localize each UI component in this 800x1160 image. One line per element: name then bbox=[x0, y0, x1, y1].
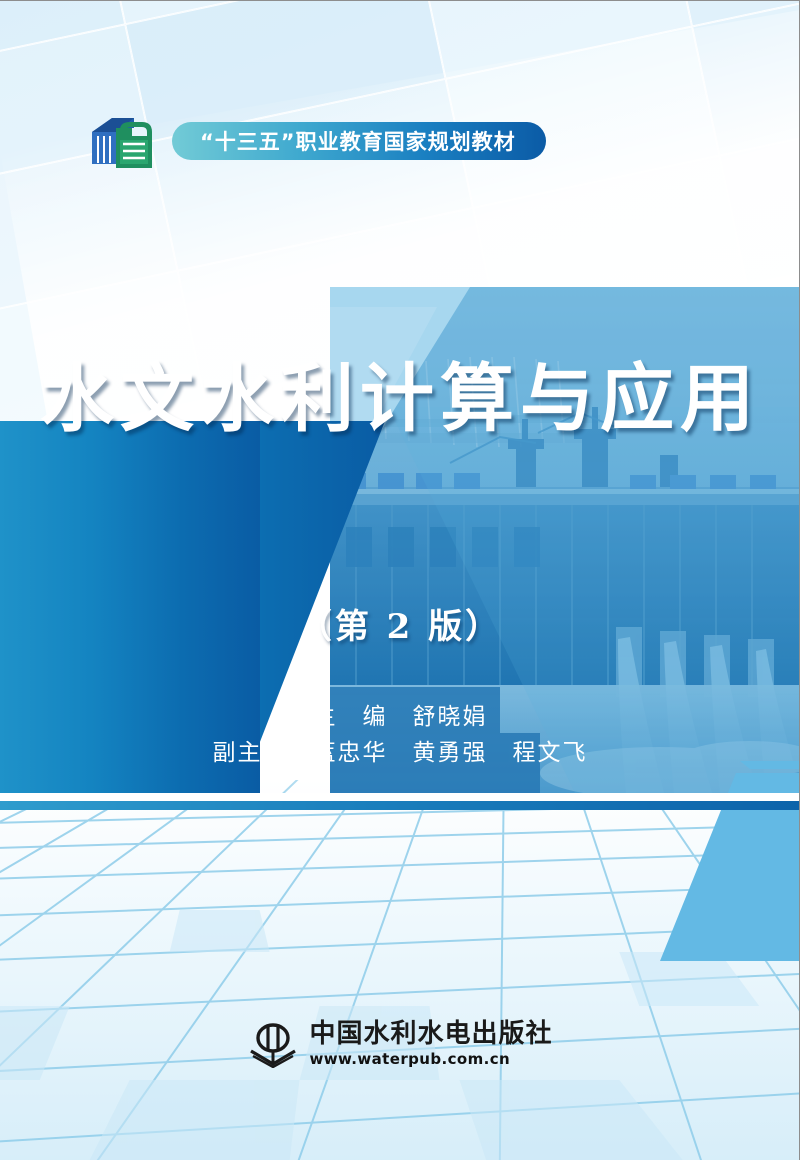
series-badge-row: “十三五”职业教育国家规划教材 bbox=[86, 105, 546, 177]
publisher-name: 中国水利水电出版社 bbox=[309, 1019, 552, 1049]
publisher-block: 中国水利水电出版社 www.waterpub.com.cn bbox=[0, 1019, 800, 1069]
publisher-url: www.waterpub.com.cn bbox=[309, 1049, 510, 1069]
series-badge-label: “十三五”职业教育国家规划教材 bbox=[172, 122, 546, 160]
right-blue-ribbon bbox=[560, 761, 800, 961]
author-block: 主 编 舒晓娟 副主编 蓝忠华 黄勇强 程文飞 bbox=[0, 699, 800, 771]
hero-white-gap bbox=[0, 793, 800, 801]
hero-blue-stripe bbox=[0, 801, 800, 810]
book-title: 水文水利计算与应用 bbox=[0, 339, 800, 446]
book-stack-icon bbox=[86, 106, 164, 176]
edition-label: （第 2 版） bbox=[0, 599, 800, 648]
author-line-chief-editor: 主 编 舒晓娟 bbox=[0, 699, 800, 735]
author-line-associate-editors: 副主编 蓝忠华 黄勇强 程文飞 bbox=[0, 735, 800, 771]
publisher-texts: 中国水利水电出版社 www.waterpub.com.cn bbox=[309, 1019, 552, 1069]
book-cover: “十三五”职业教育国家规划教材 bbox=[0, 0, 800, 1160]
waterpub-emblem-icon bbox=[247, 1020, 299, 1068]
